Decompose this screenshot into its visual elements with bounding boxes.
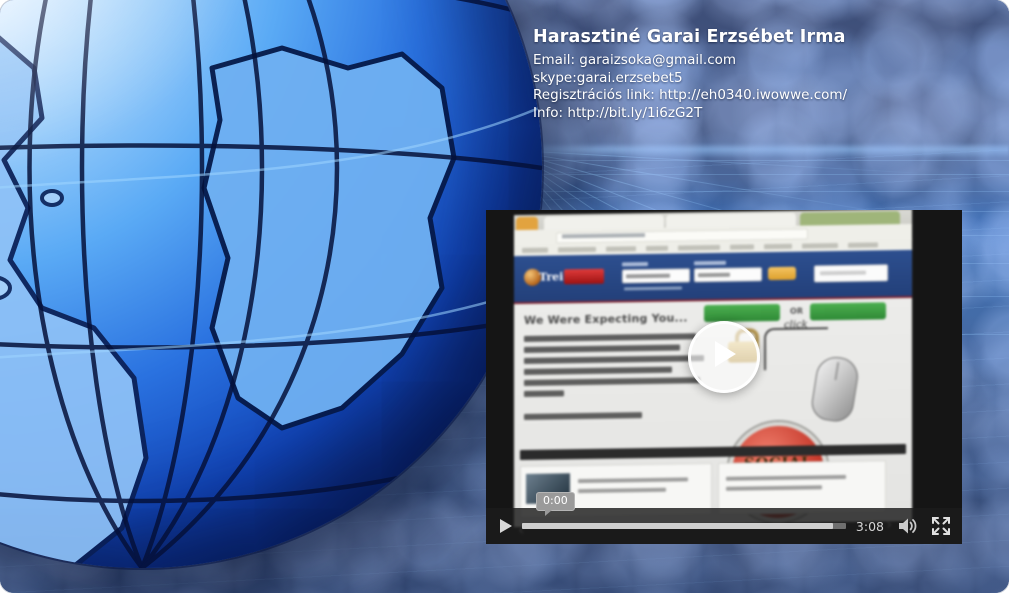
login-password-field bbox=[694, 267, 762, 282]
fullscreen-icon bbox=[928, 513, 954, 539]
globe-graphic bbox=[0, 0, 542, 568]
buffered-bar bbox=[522, 523, 833, 529]
login-email-field bbox=[622, 268, 690, 283]
banner-stage: Harasztiné Garai Erzsébet Irma Email: ga… bbox=[0, 0, 1009, 593]
video-controls-bar[interactable]: 0:00 3:08 bbox=[486, 508, 962, 544]
site-search-placeholder bbox=[820, 271, 866, 276]
person-name: Harasztiné Garai Erzsébet Irma bbox=[533, 26, 963, 48]
site-login-button[interactable] bbox=[768, 267, 796, 280]
speaker-icon bbox=[894, 513, 920, 539]
fullscreen-button[interactable] bbox=[928, 513, 954, 539]
email-line: Email: garaizsoka@gmail.com bbox=[533, 52, 963, 70]
login-remember-row bbox=[624, 286, 682, 290]
play-overlay-button[interactable] bbox=[688, 321, 760, 393]
video-player[interactable]: Trei We Were Expecting You... bbox=[486, 210, 962, 544]
info-link-line: Info: http://bit.ly/1i6zG2T bbox=[533, 105, 963, 123]
or-label: OR bbox=[790, 307, 803, 316]
site-logo-mark bbox=[564, 269, 604, 285]
duration-label: 3:08 bbox=[856, 519, 884, 534]
current-time-tooltip: 0:00 bbox=[536, 492, 575, 511]
browser-tab-pinned bbox=[516, 217, 538, 230]
contact-info-block: Harasztiné Garai Erzsébet Irma Email: ga… bbox=[533, 26, 963, 122]
site-login-cta-button[interactable] bbox=[704, 304, 780, 322]
site-logo: Trei bbox=[524, 266, 606, 289]
volume-button[interactable] bbox=[894, 513, 920, 539]
site-headline: We Were Expecting You... bbox=[524, 311, 688, 327]
site-lower-navbar bbox=[520, 444, 906, 460]
site-signup-cta-button[interactable] bbox=[810, 302, 886, 320]
site-logo-text: Trei bbox=[539, 270, 563, 283]
registration-link-line: Regisztrációs link: http://eh0340.iwowwe… bbox=[533, 87, 963, 105]
site-header-bar: Trei bbox=[514, 250, 912, 304]
mouse-cord bbox=[764, 327, 828, 370]
progress-scrubber[interactable]: 0:00 bbox=[522, 523, 846, 529]
login-email-label bbox=[622, 262, 648, 266]
login-password-label bbox=[694, 261, 726, 266]
skype-line: skype:garai.erzsebet5 bbox=[533, 70, 963, 88]
play-button[interactable] bbox=[492, 513, 518, 539]
